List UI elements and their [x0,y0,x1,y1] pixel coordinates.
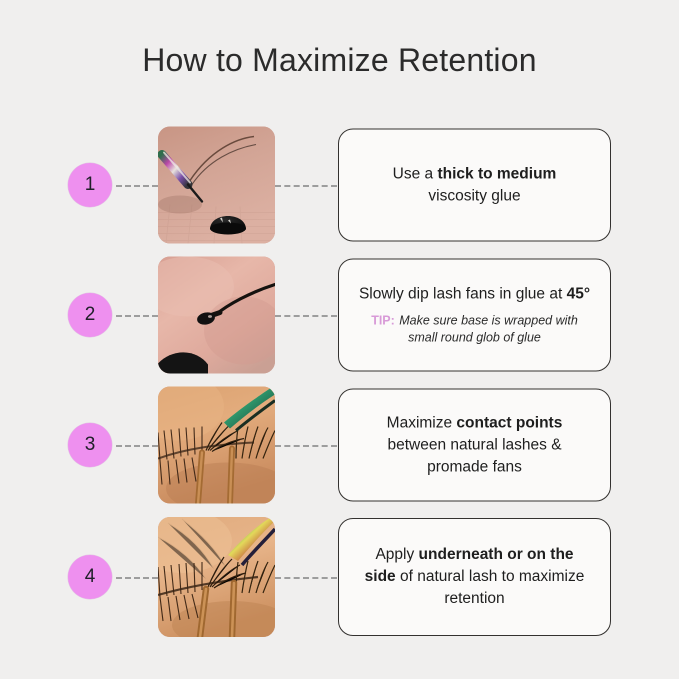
line-text: retention [444,590,504,607]
step-text-card-3: Maximize contact points between natural … [338,389,611,502]
line-bold: underneath or on the [419,546,574,563]
connector-image-to-card-3 [275,445,337,447]
step-number-label: 2 [85,304,96,326]
step-row-4: 4 [0,515,679,639]
step-image-3 [158,387,275,504]
line-text: Use a [393,165,438,182]
step-text-card-4: Apply underneath or on the side of natur… [338,518,611,636]
tip-first-line: TIP: Make sure base is wrapped with [371,312,578,330]
card-line: side of natural lash to maximize [365,566,585,588]
step-image-4 [158,517,275,637]
line-text: Apply [375,546,418,563]
lash-fan-dipped-in-glue-icon [158,257,275,374]
step-text-card-2: Slowly dip lash fans in glue at 45° TIP:… [338,259,611,372]
connector-badge-to-image-4 [116,577,158,579]
card-line: Slowly dip lash fans in glue at 45° [359,284,590,306]
step-number-label: 3 [85,434,96,456]
line-text: of natural lash to maximize [396,568,585,585]
connector-badge-to-image-1 [116,185,158,187]
tip-text-line-1: Make sure base is wrapped with [399,314,578,328]
card-line: between natural lashes & [387,434,561,456]
lash-applied-underneath-natural-lash-icon [158,517,275,637]
connector-image-to-card-4 [275,577,337,579]
step-image-2 [158,257,275,374]
step-image-1 [158,127,275,244]
line-bold: side [365,568,396,585]
step-number-badge-3: 3 [68,423,112,467]
lash-extension-contact-points-icon [158,387,275,504]
card-line: Apply underneath or on the [375,544,573,566]
line-text: Maximize [387,414,457,431]
line-text: viscosity glue [428,187,520,204]
page-title: How to Maximize Retention [0,42,679,79]
card-line: Use a thick to medium [393,163,557,185]
step-number-badge-1: 1 [68,163,112,207]
step-row-3: 3 [0,385,679,505]
line-bold: 45° [567,286,590,303]
infographic-page: How to Maximize Retention 1 [0,0,679,679]
step-row-2: 2 [0,255,679,375]
line-bold: contact points [456,414,562,431]
step-number-badge-4: 4 [68,555,112,599]
line-bold: thick to medium [437,165,556,182]
step-text-card-1: Use a thick to medium viscosity glue [338,129,611,242]
tweezer-lash-over-glue-drop-icon [158,127,275,244]
step-number-badge-2: 2 [68,293,112,337]
tip-block: TIP: Make sure base is wrapped with smal… [371,312,578,347]
connector-badge-to-image-2 [116,315,158,317]
card-line: promade fans [427,456,522,478]
line-text: between natural lashes & [387,436,561,453]
step-number-label: 4 [85,566,96,588]
card-line: viscosity glue [428,185,520,207]
connector-badge-to-image-3 [116,445,158,447]
card-line: retention [444,588,504,610]
step-number-label: 1 [85,174,96,196]
line-text: promade fans [427,458,522,475]
card-line: Maximize contact points [387,412,563,434]
step-row-1: 1 [0,125,679,245]
connector-image-to-card-2 [275,315,337,317]
line-text: Slowly dip lash fans in glue at [359,286,567,303]
tip-label: TIP: [371,314,395,328]
tip-text-line-2: small round glob of glue [371,330,578,347]
connector-image-to-card-1 [275,185,337,187]
